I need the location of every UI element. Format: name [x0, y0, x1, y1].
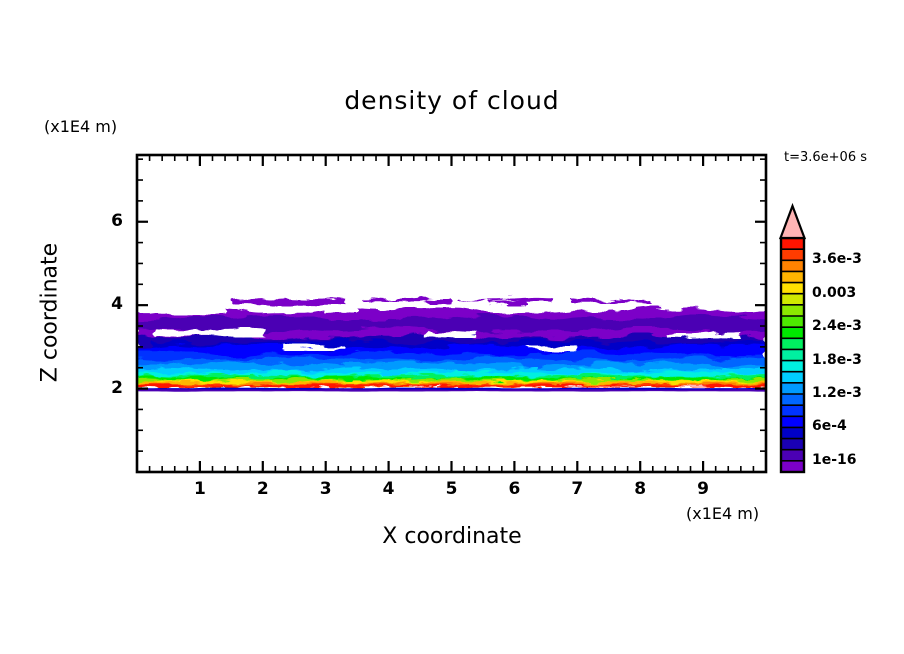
colorbar [781, 206, 805, 473]
y-tick-label-2: 2 [93, 378, 123, 398]
x-tick-label-1: 1 [185, 479, 215, 499]
y-tick-label-6: 6 [93, 211, 123, 231]
colorbar-label-2: 2.4e-3 [812, 318, 862, 334]
colorbar-label-5: 6e-4 [812, 418, 847, 434]
colorbar-label-3: 1.8e-3 [812, 352, 862, 368]
x-tick-label-3: 3 [311, 479, 341, 499]
x-tick-label-9: 9 [688, 479, 718, 499]
x-tick-label-4: 4 [374, 479, 404, 499]
density-field [137, 289, 766, 392]
colorbar-label-0: 3.6e-3 [812, 251, 862, 267]
x-tick-label-8: 8 [625, 479, 655, 499]
x-tick-label-7: 7 [562, 479, 592, 499]
x-tick-label-5: 5 [437, 479, 467, 499]
x-tick-label-2: 2 [248, 479, 278, 499]
y-tick-label-4: 4 [93, 294, 123, 314]
x-tick-label-6: 6 [499, 479, 529, 499]
colorbar-label-1: 0.003 [812, 285, 856, 301]
colorbar-label-6: 1e-16 [812, 452, 857, 468]
colorbar-label-4: 1.2e-3 [812, 385, 862, 401]
density-plot [0, 0, 904, 654]
